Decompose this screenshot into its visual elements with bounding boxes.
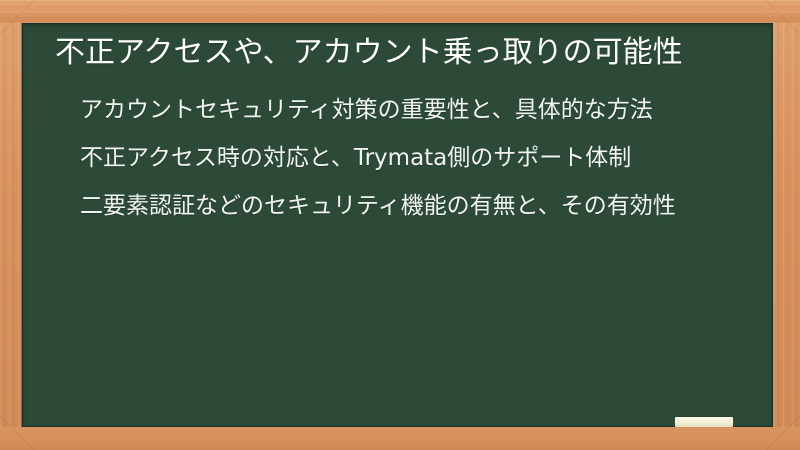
slide-bullet-list: アカウントセキュリティ対策の重要性と、具体的な方法 不正アクセス時の対応と、Tr… — [55, 92, 743, 224]
chalk-stick-icon — [675, 417, 733, 427]
chalkboard-content: 不正アクセスや、アカウント乗っ取りの可能性 アカウントセキュリティ対策の重要性と… — [22, 23, 773, 427]
slide-title: 不正アクセスや、アカウント乗っ取りの可能性 — [55, 32, 743, 73]
frame-rail-top — [0, 0, 800, 23]
list-item: アカウントセキュリティ対策の重要性と、具体的な方法 — [80, 92, 743, 128]
chalkboard-surface: 不正アクセスや、アカウント乗っ取りの可能性 アカウントセキュリティ対策の重要性と… — [22, 23, 773, 427]
list-item: 二要素認証などのセキュリティ機能の有無と、その有効性 — [80, 188, 743, 224]
frame-rail-bottom — [0, 427, 800, 450]
chalkboard-slide: 不正アクセスや、アカウント乗っ取りの可能性 アカウントセキュリティ対策の重要性と… — [0, 0, 800, 450]
list-item: 不正アクセス時の対応と、Trymata側のサポート体制 — [80, 140, 743, 176]
